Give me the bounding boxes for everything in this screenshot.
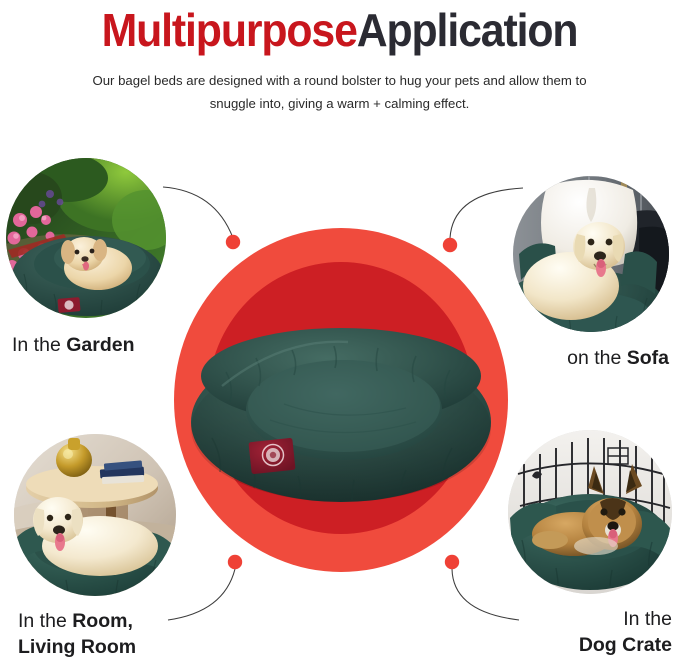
books-icon bbox=[100, 460, 145, 484]
bagel-pet-bed-image bbox=[188, 310, 494, 510]
header: MultipurposeApplication Our bagel beds a… bbox=[0, 0, 679, 115]
card-living-room-label-line2: Living Room bbox=[18, 636, 136, 658]
page-subtitle-line2: snuggle into, giving a warm + calming ef… bbox=[20, 92, 660, 115]
dog-crate-photo bbox=[508, 430, 672, 594]
card-garden-label-prefix: In the bbox=[12, 334, 66, 356]
card-sofa-label-prefix: on the bbox=[567, 347, 627, 369]
card-living-room-label-strong: Room, bbox=[72, 610, 133, 632]
card-garden: In the Garden bbox=[6, 158, 166, 358]
living-room-photo bbox=[14, 434, 176, 596]
card-living-room-label-prefix: In the bbox=[18, 610, 72, 632]
card-sofa-label: on the Sofa bbox=[513, 345, 669, 371]
card-sofa-label-strong: Sofa bbox=[627, 347, 669, 369]
dog-crate-photo-illustration bbox=[508, 430, 672, 594]
living-room-photo-illustration bbox=[14, 434, 176, 596]
hero-product bbox=[168, 228, 512, 572]
page-subtitle: Our bagel beds are designed with a round… bbox=[20, 69, 660, 115]
card-dog-crate-label: In the Dog Crate bbox=[508, 606, 672, 658]
brand-tag-icon bbox=[248, 438, 295, 474]
multipurpose-application-infographic: MultipurposeApplication Our bagel beds a… bbox=[0, 0, 679, 666]
page-title: MultipurposeApplication bbox=[24, 0, 655, 58]
sofa-photo-illustration bbox=[513, 176, 669, 332]
card-garden-label: In the Garden bbox=[12, 332, 166, 358]
card-dog-crate: In the Dog Crate bbox=[508, 430, 672, 658]
card-garden-label-strong: Garden bbox=[66, 334, 134, 356]
card-living-room: In the Room, Living Room bbox=[14, 434, 176, 660]
card-dog-crate-label-strong: Dog Crate bbox=[579, 634, 672, 656]
garden-photo bbox=[6, 158, 166, 318]
card-sofa: on the Sofa bbox=[513, 176, 669, 371]
card-living-room-label: In the Room, Living Room bbox=[18, 608, 176, 660]
card-dog-crate-label-prefix: In the bbox=[623, 608, 672, 630]
sofa-photo bbox=[513, 176, 669, 332]
bagel-pet-bed-illustration bbox=[188, 310, 494, 510]
garden-photo-illustration bbox=[6, 158, 166, 318]
page-title-red: Multipurpose bbox=[102, 4, 357, 56]
page-subtitle-line1: Our bagel beds are designed with a round… bbox=[20, 69, 660, 92]
page-title-dark: Application bbox=[357, 4, 578, 56]
